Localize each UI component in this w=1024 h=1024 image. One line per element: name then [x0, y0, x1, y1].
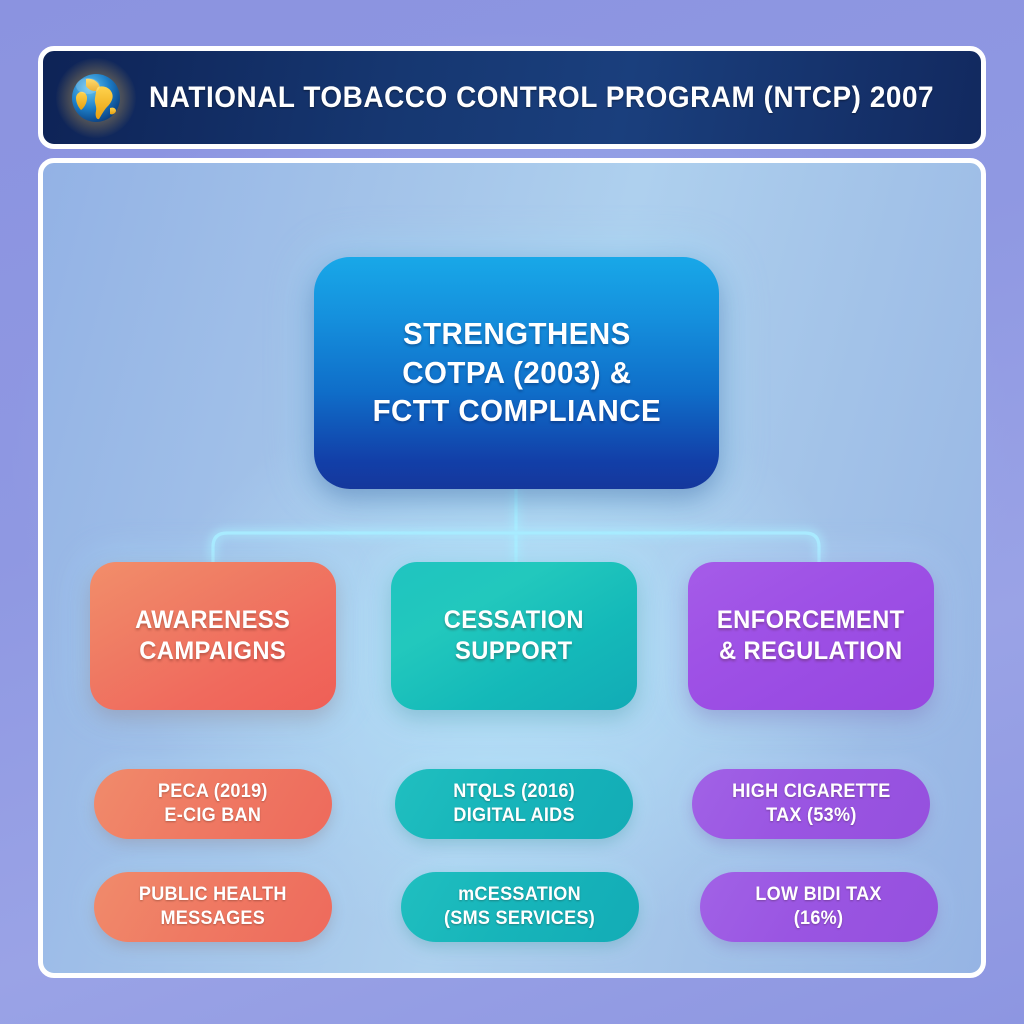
sub-enforcement-1-line-1: HIGH CIGARETTE [732, 780, 890, 804]
root-node-label: STRENGTHENS COTPA (2003) & FCTT COMPLIAN… [372, 315, 661, 430]
diagram-frame: NATIONAL TOBACCO CONTROL PROGRAM (NTCP) … [38, 46, 986, 978]
root-line-1: STRENGTHENS [372, 315, 661, 353]
branch-cessation-line-1: CESSATION [444, 605, 584, 636]
sub-node-mcessation-sms-label: mCESSATION (SMS SERVICES) [444, 883, 595, 930]
sub-awareness-2-line-1: PUBLIC HEALTH [139, 883, 287, 907]
branch-node-cessation[interactable]: CESSATION SUPPORT [391, 562, 637, 710]
sub-node-peca-ecig-ban[interactable]: PECA (2019) E-CIG BAN [94, 769, 332, 839]
header-bar: NATIONAL TOBACCO CONTROL PROGRAM (NTCP) … [38, 46, 986, 149]
root-line-3: FCTT COMPLIANCE [372, 392, 661, 430]
sub-node-high-cigarette-tax[interactable]: HIGH CIGARETTE TAX (53%) [692, 769, 930, 839]
sub-cessation-1-line-2: DIGITAL AIDS [453, 804, 575, 828]
diagram-panel: STRENGTHENS COTPA (2003) & FCTT COMPLIAN… [38, 158, 986, 978]
sub-node-high-cigarette-tax-label: HIGH CIGARETTE TAX (53%) [732, 780, 890, 827]
sub-node-low-bidi-tax-label: LOW BIDI TAX (16%) [756, 883, 882, 930]
sub-node-mcessation-sms[interactable]: mCESSATION (SMS SERVICES) [401, 872, 639, 942]
globe-icon [65, 67, 127, 129]
sub-enforcement-2-line-1: LOW BIDI TAX [756, 883, 882, 907]
sub-awareness-1-line-1: PECA (2019) [158, 780, 268, 804]
sub-awareness-1-line-2: E-CIG BAN [158, 804, 268, 828]
branch-node-awareness[interactable]: AWARENESS CAMPAIGNS [90, 562, 336, 710]
globe-icon-svg [68, 70, 124, 126]
branch-enforcement-line-1: ENFORCEMENT [717, 605, 905, 636]
sub-node-peca-ecig-ban-label: PECA (2019) E-CIG BAN [158, 780, 268, 827]
sub-node-ntqls-digital-aids-label: NTQLS (2016) DIGITAL AIDS [453, 780, 575, 827]
branch-awareness-label: AWARENESS CAMPAIGNS [135, 605, 290, 667]
page-title: NATIONAL TOBACCO CONTROL PROGRAM (NTCP) … [149, 81, 934, 115]
branch-enforcement-line-2: & REGULATION [717, 636, 905, 667]
branch-awareness-line-1: AWARENESS [135, 605, 290, 636]
branch-cessation-line-2: SUPPORT [444, 636, 584, 667]
branch-node-enforcement[interactable]: ENFORCEMENT & REGULATION [688, 562, 934, 710]
sub-cessation-2-line-1: mCESSATION [444, 883, 595, 907]
branch-cessation-label: CESSATION SUPPORT [444, 605, 584, 667]
sub-cessation-1-line-1: NTQLS (2016) [453, 780, 575, 804]
sub-node-ntqls-digital-aids[interactable]: NTQLS (2016) DIGITAL AIDS [395, 769, 633, 839]
sub-node-public-health-messages-label: PUBLIC HEALTH MESSAGES [139, 883, 287, 930]
sub-cessation-2-line-2: (SMS SERVICES) [444, 907, 595, 931]
root-node[interactable]: STRENGTHENS COTPA (2003) & FCTT COMPLIAN… [314, 257, 719, 489]
sub-enforcement-2-line-2: (16%) [756, 907, 882, 931]
sub-enforcement-1-line-2: TAX (53%) [732, 804, 890, 828]
sub-node-public-health-messages[interactable]: PUBLIC HEALTH MESSAGES [94, 872, 332, 942]
sub-awareness-2-line-2: MESSAGES [139, 907, 287, 931]
branch-awareness-line-2: CAMPAIGNS [135, 636, 290, 667]
branch-enforcement-label: ENFORCEMENT & REGULATION [717, 605, 905, 667]
sub-node-low-bidi-tax[interactable]: LOW BIDI TAX (16%) [700, 872, 938, 942]
root-line-2: COTPA (2003) & [372, 354, 661, 392]
